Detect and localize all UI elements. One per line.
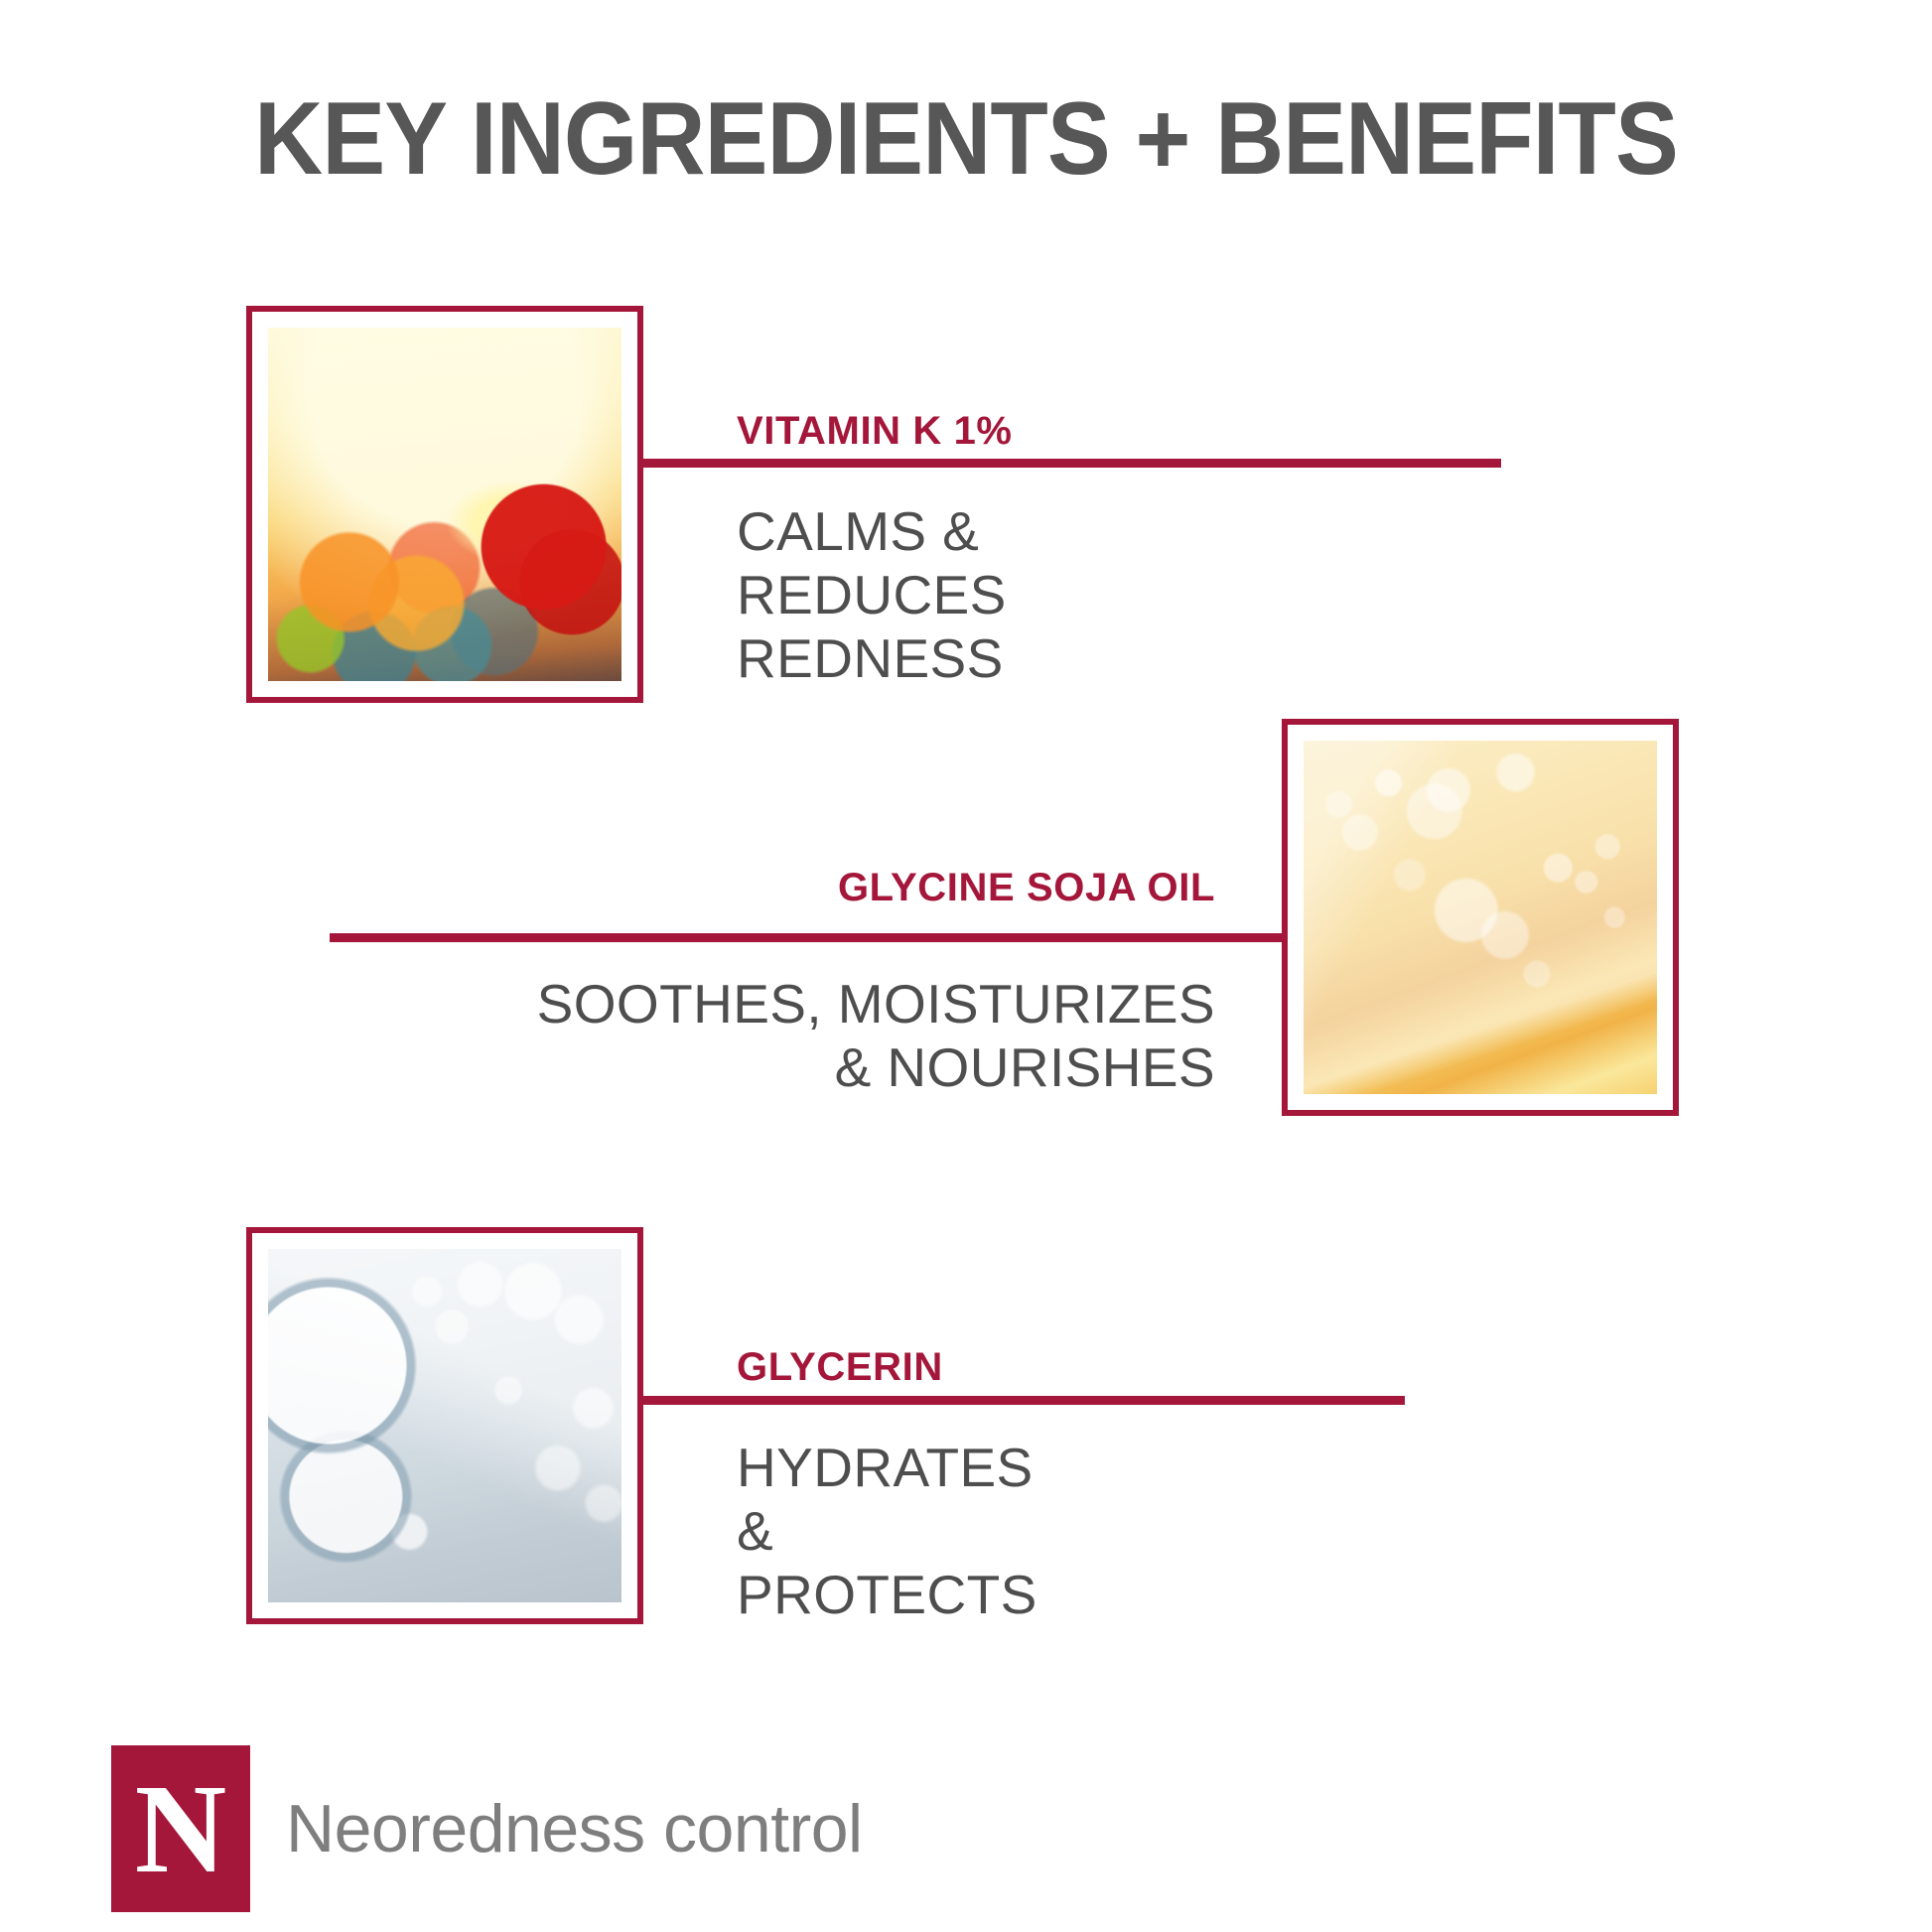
ingredient-benefit-glycine-soja-oil: SOOTHES, MOISTURIZES & NOURISHES	[330, 973, 1215, 1100]
infographic-page: KEY INGREDIENTS + BENEFITS VITAMIN K 1% …	[0, 0, 1932, 1932]
page-title: KEY INGREDIENTS + BENEFITS	[77, 87, 1855, 191]
ingredient-name-glycerin: GLYCERIN	[737, 1347, 943, 1387]
divider-vitamin-k	[643, 459, 1501, 468]
brand-logo-mark: N	[111, 1745, 250, 1912]
oil-photo	[1304, 741, 1657, 1094]
divider-glycine-soja-oil	[330, 933, 1283, 942]
ingredient-benefit-vitamin-k: CALMS & REDUCES REDNESS	[737, 500, 1007, 690]
ingredient-image-tile-vitamin-k	[246, 306, 643, 703]
ingredient-image-tile-glycine-soja-oil	[1282, 719, 1679, 1116]
brand-lockup: N Neoredness control	[111, 1745, 863, 1912]
brand-name: Neoredness control	[286, 1795, 863, 1863]
ingredient-name-glycine-soja-oil: GLYCINE SOJA OIL	[330, 868, 1215, 907]
gel-photo	[268, 1249, 621, 1602]
ingredient-name-vitamin-k: VITAMIN K 1%	[737, 411, 1013, 451]
divider-glycerin	[643, 1396, 1405, 1405]
capsules-photo	[268, 328, 621, 681]
ingredient-benefit-glycerin: HYDRATES & PROTECTS	[737, 1437, 1037, 1626]
ingredient-image-tile-glycerin	[246, 1227, 643, 1624]
